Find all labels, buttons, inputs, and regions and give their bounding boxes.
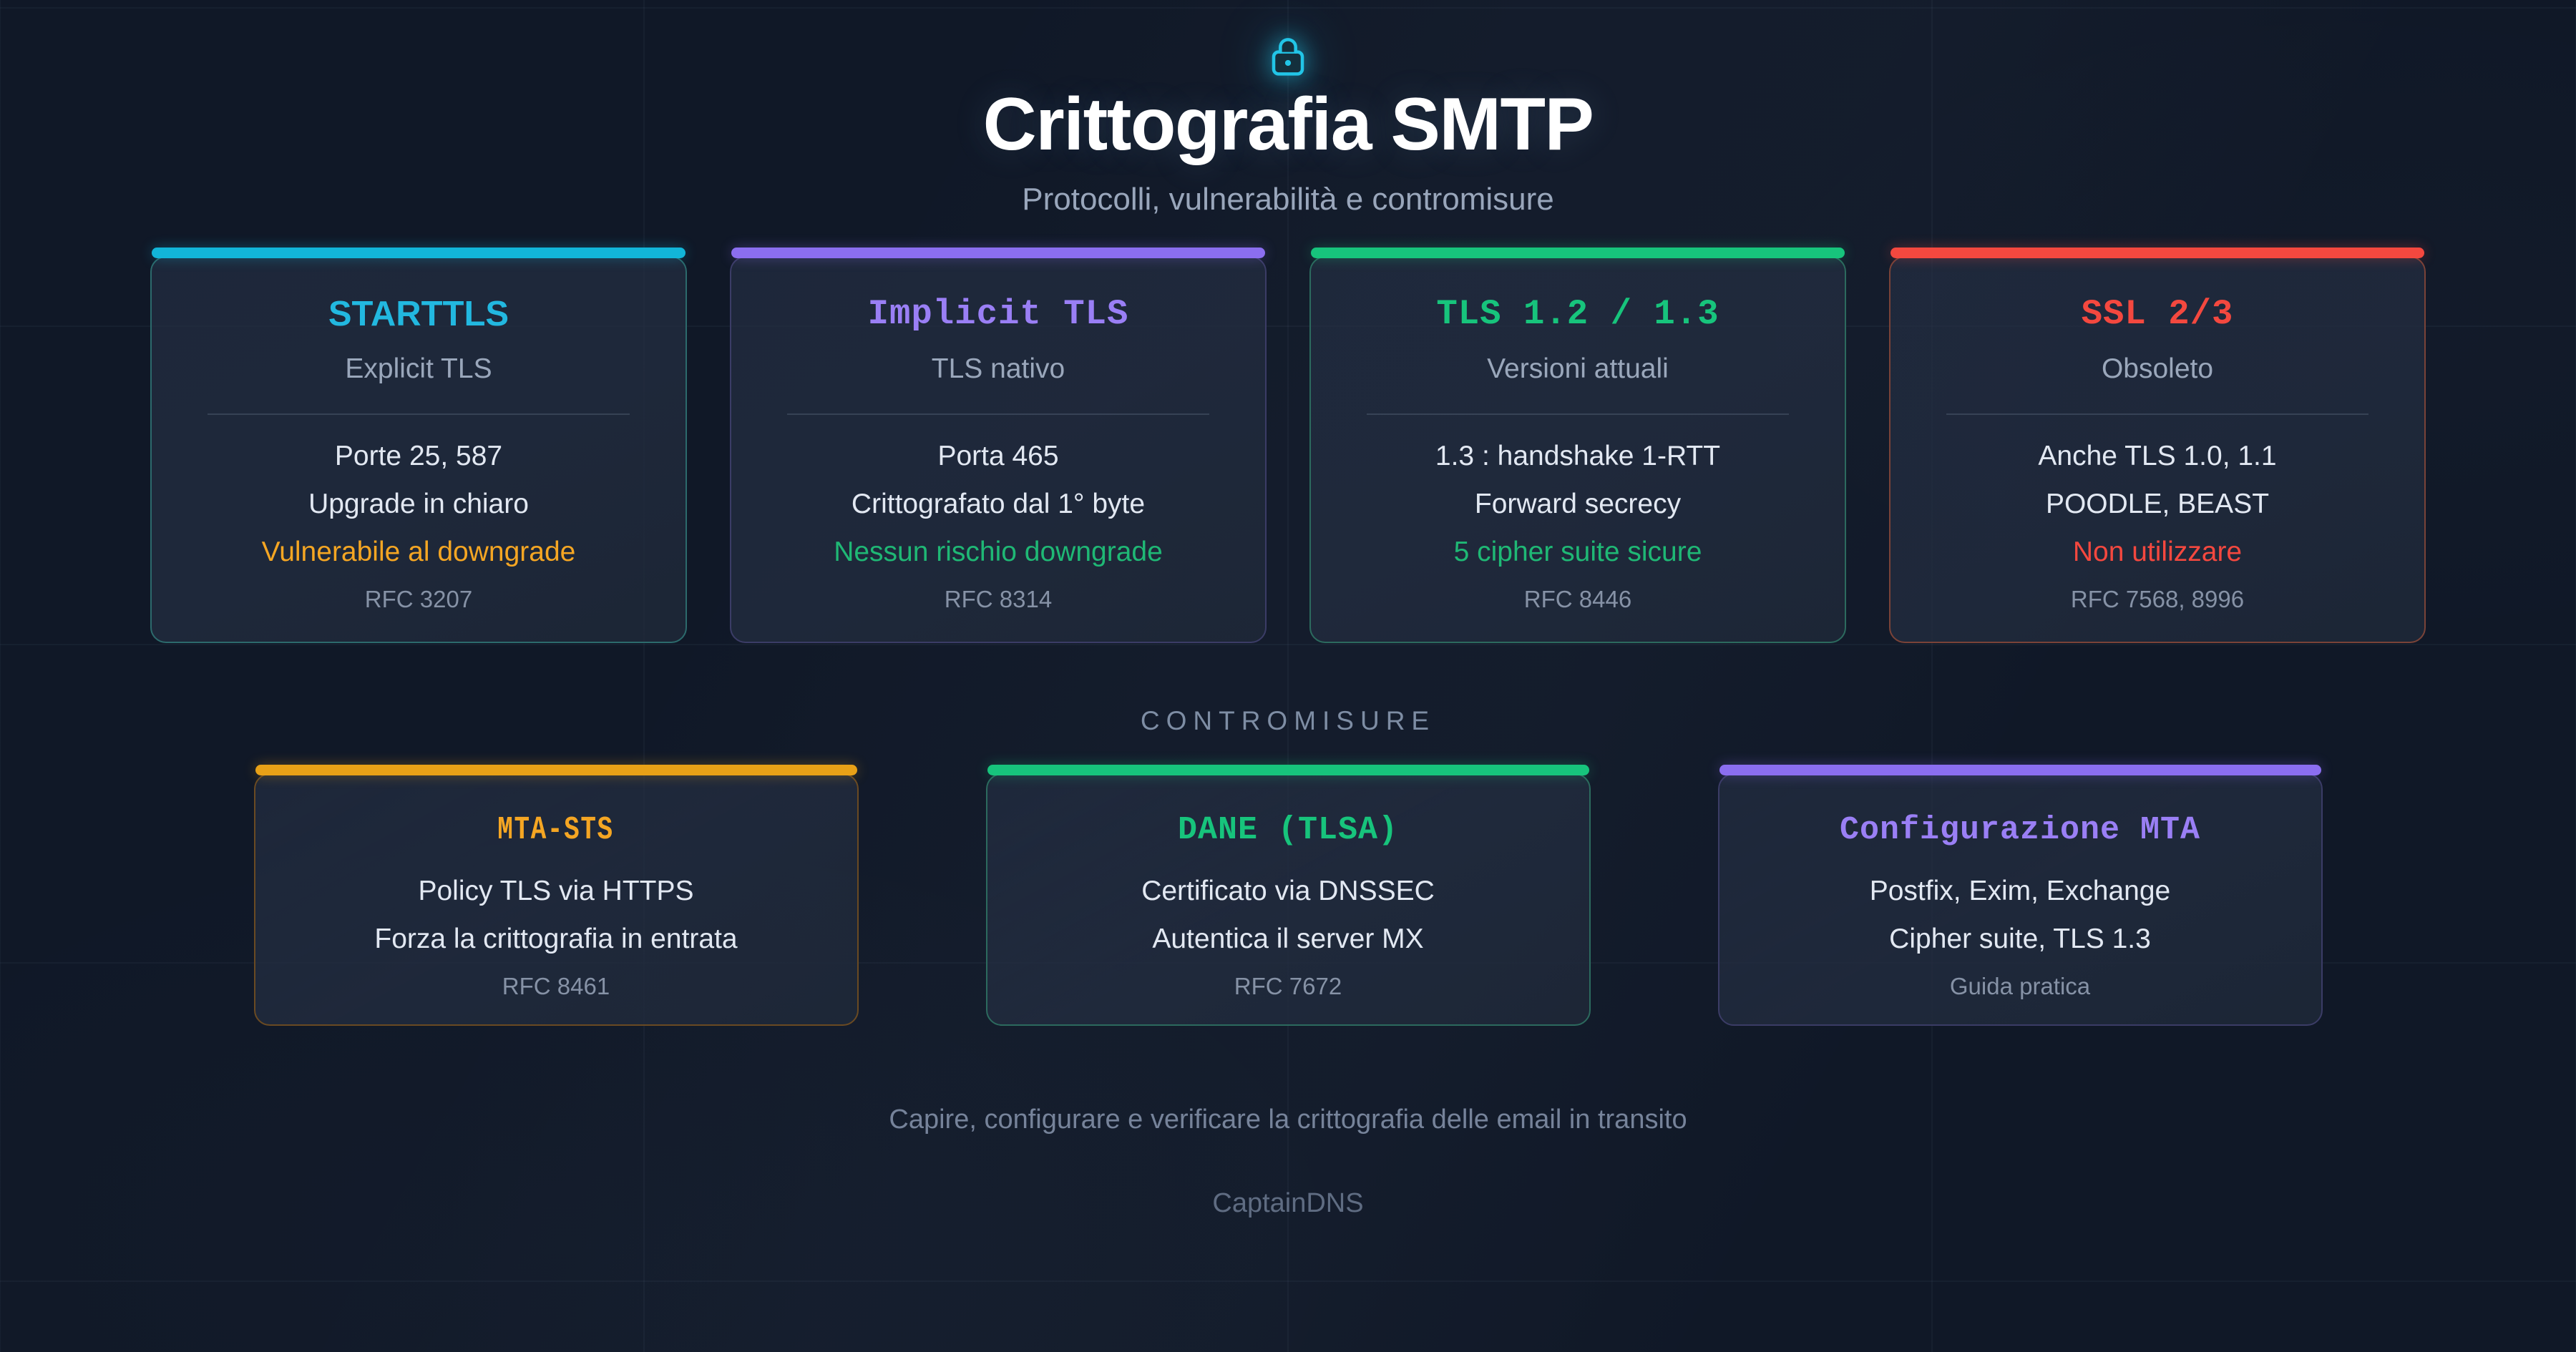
card-detail-line: Autentica il server MX — [1009, 925, 1568, 953]
card-reference: Guida pratica — [1741, 973, 2300, 1000]
card-accent-bar — [987, 765, 1589, 775]
card-detail-line: Anche TLS 1.0, 1.1 — [1912, 442, 2403, 470]
countermeasure-card-row: MTA-STS Policy TLS via HTTPS Forza la cr… — [0, 773, 2576, 1026]
card-detail-line: Nessun rischio downgrade — [753, 538, 1244, 566]
card-reference: RFC 7568, 8996 — [1912, 586, 2403, 613]
card-reference: RFC 8446 — [1332, 586, 1823, 613]
countermeasure-card-dane-tlsa[interactable]: DANE (TLSA) Certificato via DNSSEC Auten… — [986, 773, 1591, 1026]
protocol-card-tls-12-13[interactable]: TLS 1.2 / 1.3 Versioni attuali 1.3 : han… — [1309, 256, 1846, 642]
card-title: Implicit TLS — [753, 296, 1244, 333]
card-title: SSL 2/3 — [1912, 296, 2403, 333]
card-title: Configurazione MTA — [1741, 813, 2300, 847]
protocol-card-implicit-tls[interactable]: Implicit TLS TLS nativo Porta 465 Critto… — [730, 256, 1267, 642]
card-detail-line: Non utilizzare — [1912, 538, 2403, 566]
card-accent-bar — [731, 248, 1265, 258]
card-detail-line: Upgrade in chiaro — [173, 490, 664, 518]
card-title: DANE (TLSA) — [1009, 813, 1568, 847]
page-subtitle: Protocolli, vulnerabilità e contromisure — [0, 182, 2576, 217]
card-detail-line: Porta 465 — [753, 442, 1244, 470]
card-detail-list: 1.3 : handshake 1-RTT Forward secrecy 5 … — [1332, 442, 1823, 566]
infographic-page: Crittografia SMTP Protocolli, vulnerabil… — [0, 0, 2576, 1352]
protocol-card-starttls[interactable]: STARTTLS Explicit TLS Porte 25, 587 Upgr… — [150, 256, 687, 642]
card-divider — [1367, 413, 1789, 415]
card-detail-line: Policy TLS via HTTPS — [277, 877, 836, 905]
card-detail-list: Porte 25, 587 Upgrade in chiaro Vulnerab… — [173, 442, 664, 566]
card-detail-list: Policy TLS via HTTPS Forza la crittograf… — [277, 877, 836, 953]
card-detail-line: 5 cipher suite sicure — [1332, 538, 1823, 566]
card-reference: RFC 8461 — [277, 973, 836, 1000]
card-detail-line: Crittografato dal 1° byte — [753, 490, 1244, 518]
protocol-card-ssl-2-3[interactable]: SSL 2/3 Obsoleto Anche TLS 1.0, 1.1 POOD… — [1889, 256, 2426, 642]
card-accent-bar — [1311, 248, 1845, 258]
section-label-countermeasures: CONTROMISURE — [0, 706, 2576, 736]
card-accent-bar — [255, 765, 857, 775]
card-detail-list: Certificato via DNSSEC Autentica il serv… — [1009, 877, 1568, 953]
card-detail-line: Vulnerabile al downgrade — [173, 538, 664, 566]
card-detail-list: Anche TLS 1.0, 1.1 POODLE, BEAST Non uti… — [1912, 442, 2403, 566]
protocol-card-row: STARTTLS Explicit TLS Porte 25, 587 Upgr… — [0, 256, 2576, 642]
card-subtitle: Obsoleto — [1912, 353, 2403, 385]
card-detail-line: Forza la crittografia in entrata — [277, 925, 836, 953]
card-divider — [787, 413, 1209, 415]
card-accent-bar — [1719, 765, 2321, 775]
card-detail-line: Postfix, Exim, Exchange — [1741, 877, 2300, 905]
card-title: STARTTLS — [173, 296, 664, 333]
card-accent-bar — [1890, 248, 2424, 258]
card-reference: RFC 8314 — [753, 586, 1244, 613]
card-divider — [208, 413, 630, 415]
card-detail-line: Porte 25, 587 — [173, 442, 664, 470]
footer-brand: CaptainDNS — [0, 1188, 2576, 1219]
footer: Capire, configurare e verificare la crit… — [0, 1104, 2576, 1219]
card-title: TLS 1.2 / 1.3 — [1332, 296, 1823, 333]
card-detail-list: Postfix, Exim, Exchange Cipher suite, TL… — [1741, 877, 2300, 953]
card-subtitle: Versioni attuali — [1332, 353, 1823, 385]
card-detail-line: 1.3 : handshake 1-RTT — [1332, 442, 1823, 470]
lock-icon — [1265, 33, 1311, 79]
card-subtitle: TLS nativo — [753, 353, 1244, 385]
footer-tagline: Capire, configurare e verificare la crit… — [0, 1104, 2576, 1135]
header: Crittografia SMTP Protocolli, vulnerabil… — [0, 0, 2576, 217]
card-reference: RFC 7672 — [1009, 973, 1568, 1000]
page-title: Crittografia SMTP — [0, 83, 2576, 166]
card-detail-line: Certificato via DNSSEC — [1009, 877, 1568, 905]
card-divider — [1946, 413, 2368, 415]
countermeasure-card-mta-sts[interactable]: MTA-STS Policy TLS via HTTPS Forza la cr… — [254, 773, 859, 1026]
card-title: MTA-STS — [498, 813, 614, 847]
card-detail-list: Porta 465 Crittografato dal 1° byte Ness… — [753, 442, 1244, 566]
card-detail-line: POODLE, BEAST — [1912, 490, 2403, 518]
card-accent-bar — [152, 248, 686, 258]
countermeasure-card-configurazione-mta[interactable]: Configurazione MTA Postfix, Exim, Exchan… — [1718, 773, 2323, 1026]
card-reference: RFC 3207 — [173, 586, 664, 613]
card-detail-line: Forward secrecy — [1332, 490, 1823, 518]
card-detail-line: Cipher suite, TLS 1.3 — [1741, 925, 2300, 953]
card-subtitle: Explicit TLS — [173, 353, 664, 385]
